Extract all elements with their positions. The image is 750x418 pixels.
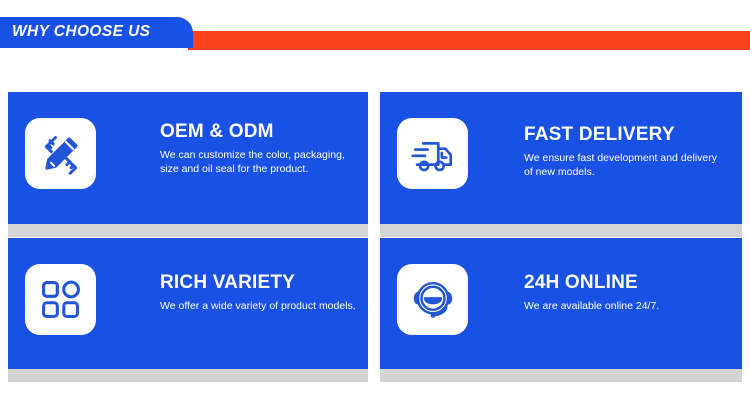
grid-shapes-icon: [39, 278, 83, 322]
feature-card-24h-online[interactable]: 24H ONLINE We are available online 24/7.: [380, 238, 742, 369]
icon-tile-oem-odm: [25, 118, 96, 189]
card-text-oem-odm: OEM & ODM We can customize the color, pa…: [160, 120, 356, 176]
card-heading-rich-variety: RICH VARIETY: [160, 271, 356, 295]
page-header: WHY CHOOSE US: [0, 0, 750, 60]
pencil-ruler-icon: [39, 132, 83, 176]
card-heading-24h-online: 24H ONLINE: [524, 271, 730, 295]
card-text-fast-delivery: FAST DELIVERY We ensure fast development…: [524, 123, 730, 179]
card-heading-fast-delivery: FAST DELIVERY: [524, 123, 730, 147]
card-body-24h-online: We are available online 24/7.: [524, 300, 724, 314]
card-text-rich-variety: RICH VARIETY We offer a wide variety of …: [160, 271, 356, 314]
headset-smile-icon: [410, 277, 456, 323]
card-text-24h-online: 24H ONLINE We are available online 24/7.: [524, 271, 730, 314]
card-body-rich-variety: We offer a wide variety of product model…: [160, 300, 356, 314]
icon-tile-24h-online: [397, 264, 468, 335]
icon-tile-fast-delivery: [397, 118, 468, 189]
page-title: WHY CHOOSE US: [12, 21, 150, 43]
feature-card-rich-variety[interactable]: RICH VARIETY We offer a wide variety of …: [8, 238, 368, 369]
feature-card-fast-delivery[interactable]: FAST DELIVERY We ensure fast development…: [380, 92, 742, 224]
card-body-oem-odm: We can customize the color, packaging, s…: [160, 149, 356, 176]
feature-card-oem-odm[interactable]: OEM & ODM We can customize the color, pa…: [8, 92, 368, 224]
icon-tile-rich-variety: [25, 264, 96, 335]
delivery-truck-icon: [410, 131, 456, 177]
card-heading-oem-odm: OEM & ODM: [160, 120, 356, 144]
card-body-fast-delivery: We ensure fast development and delivery …: [524, 152, 724, 179]
header-accent-bar: [188, 31, 750, 50]
